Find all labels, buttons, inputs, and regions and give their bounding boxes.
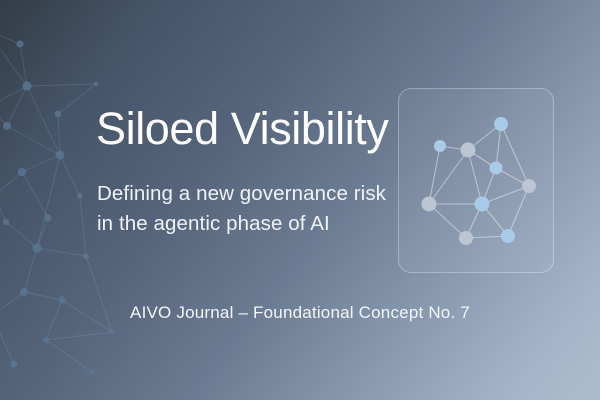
- page-subtitle: Defining a new governance risk in the ag…: [97, 179, 386, 238]
- network-graph-edges: [429, 124, 529, 238]
- footer-attribution: AIVO Journal – Foundational Concept No. …: [0, 303, 600, 323]
- slide-canvas: Siloed Visibility Defining a new governa…: [0, 0, 600, 400]
- page-title: Siloed Visibility: [96, 105, 389, 152]
- network-graph: [398, 88, 554, 273]
